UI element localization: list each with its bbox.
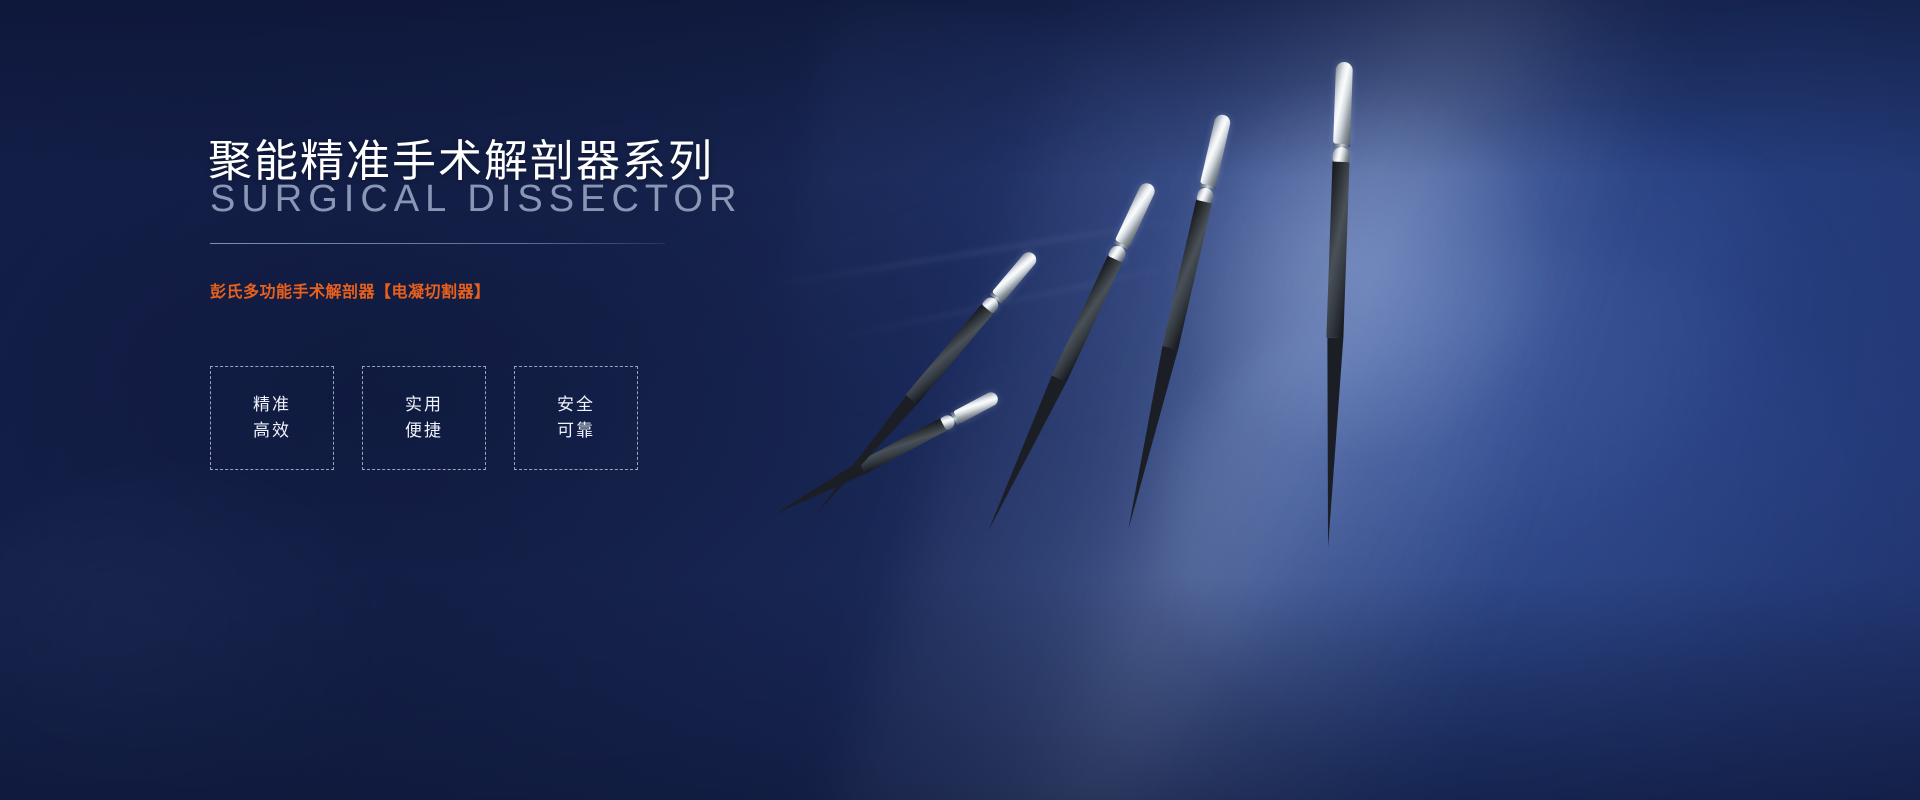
feature-line-2: 可靠 [557,423,595,440]
feature-line-1: 实用 [405,397,443,414]
feature-line-1: 精准 [253,397,291,414]
title-divider [210,243,665,244]
feature-box-practical: 实用 便捷 [362,366,486,470]
page-subtitle-en: SURGICAL DISSECTOR [210,178,742,221]
feature-box-safety: 安全 可靠 [514,366,638,470]
product-name-label: 彭氏多功能手术解剖器【电凝切割器】 [210,278,491,302]
feature-box-precision: 精准 高效 [210,366,334,470]
feature-line-2: 高效 [253,423,291,440]
feature-box-list: 精准 高效 实用 便捷 安全 可靠 [210,366,638,470]
hero-banner: 聚能精准手术解剖器系列 SURGICAL DISSECTOR 彭氏多功能手术解剖… [0,0,1920,800]
feature-line-2: 便捷 [405,423,443,440]
banner-content: 聚能精准手术解剖器系列 SURGICAL DISSECTOR 彭氏多功能手术解剖… [208,0,968,800]
feature-line-1: 安全 [557,397,595,414]
